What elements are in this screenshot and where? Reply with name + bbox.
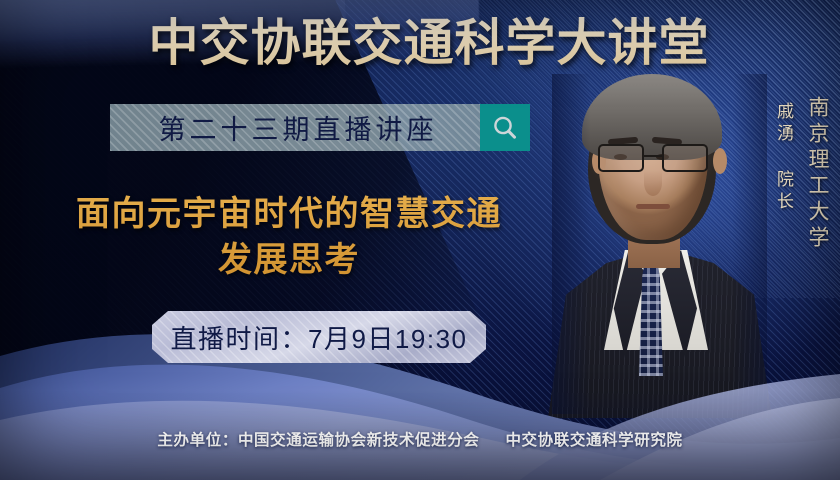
- speaker-organization: 南京理工大学: [802, 96, 832, 252]
- lecture-headline: 面向元宇宙时代的智慧交通 发展思考: [34, 192, 544, 283]
- episode-bar[interactable]: 第二十三期直播讲座: [110, 104, 530, 151]
- headline-line-1: 面向元宇宙时代的智慧交通: [34, 192, 544, 238]
- organizer-name-2: 中交协联交通科学研究院: [505, 432, 682, 449]
- search-icon: [490, 113, 520, 143]
- organizer-label: 主办单位：: [157, 432, 238, 449]
- episode-label: 第二十三期直播讲座: [110, 104, 480, 151]
- speaker-name-title: 戚湧 院长: [771, 102, 796, 214]
- broadcast-time-badge: 直播时间：7月9日19:30: [152, 311, 486, 363]
- organizer-footer: 主办单位：中国交通运输协会新技术促进分会中交协联交通科学研究院: [0, 428, 840, 450]
- page-title: 中交协联交通科学大讲堂: [0, 16, 840, 70]
- organizer-name-1: 中国交通运输协会新技术促进分会: [238, 432, 480, 449]
- broadcast-time-text: 直播时间：7月9日19:30: [171, 319, 468, 356]
- live-stream-poster: 中交协联交通科学大讲堂 第二十三期直播讲座 面向元宇宙时代的智慧交通 发展思考 …: [0, 0, 840, 480]
- search-button[interactable]: [480, 104, 530, 151]
- headline-line-2: 发展思考: [34, 238, 544, 284]
